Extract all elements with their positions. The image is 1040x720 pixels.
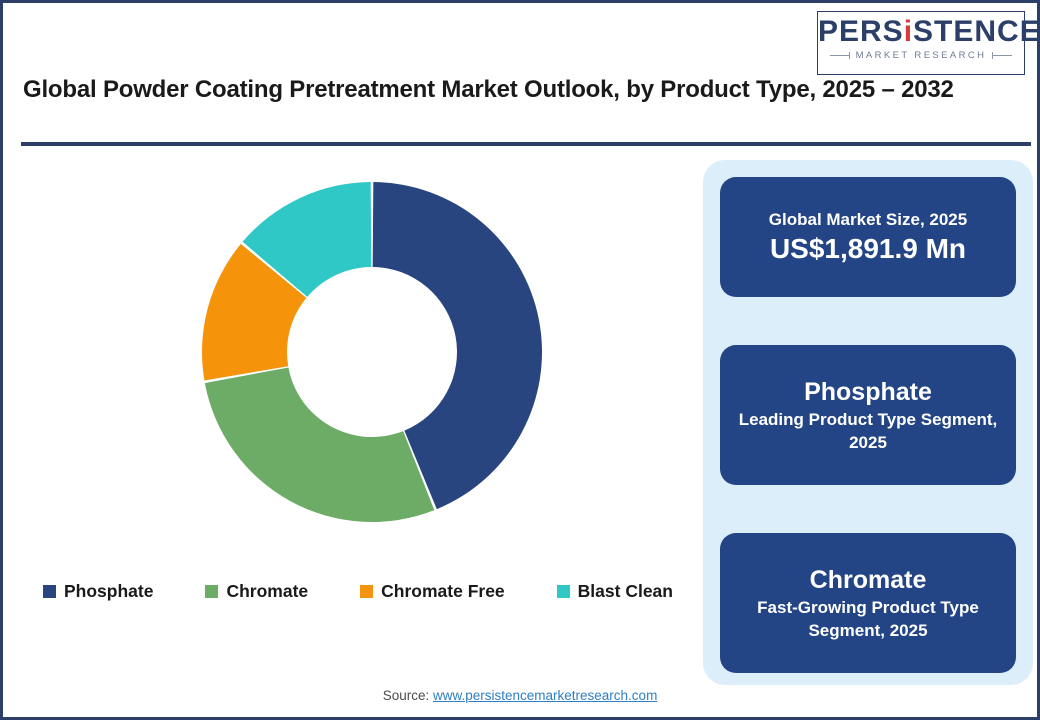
leading-segment-caption: Leading Product Type Segment, 2025 — [720, 408, 1016, 454]
legend-swatch-chromate — [205, 585, 218, 598]
legend-swatch-chromate-free — [360, 585, 373, 598]
market-size-label: Global Market Size, 2025 — [769, 208, 967, 231]
legend-label-chromate-free: Chromate Free — [381, 581, 505, 602]
stat-card-leading-segment: Phosphate Leading Product Type Segment, … — [720, 345, 1016, 485]
header: PERSiSTENCE MARKET RESEARCH Global Powde… — [3, 3, 1037, 143]
legend-label-phosphate: Phosphate — [64, 581, 153, 602]
legend-label-blast-clean: Blast Clean — [578, 581, 673, 602]
legend-item-chromate-free[interactable]: Chromate Free — [360, 581, 505, 602]
donut-chart-svg — [186, 166, 558, 538]
donut-chart-area: Phosphate Chromate Chromate Free Blast C… — [3, 153, 693, 653]
legend-label-chromate: Chromate — [226, 581, 308, 602]
donut-slice-group — [202, 182, 542, 522]
page-title: Global Powder Coating Pretreatment Marke… — [23, 73, 983, 106]
persistence-market-research-logo: PERSiSTENCE MARKET RESEARCH — [817, 11, 1025, 75]
logo-wordmark-accent-i: i — [904, 15, 913, 48]
logo-subtext-row: MARKET RESEARCH — [818, 50, 1024, 61]
logo-subtext: MARKET RESEARCH — [856, 50, 987, 61]
legend-swatch-blast-clean — [557, 585, 570, 598]
fastest-growing-segment-name: Chromate — [810, 564, 927, 596]
leading-segment-name: Phosphate — [804, 376, 932, 408]
logo-wordmark: PERSiSTENCE — [818, 16, 1024, 48]
stat-card-market-size: Global Market Size, 2025 US$1,891.9 Mn — [720, 177, 1016, 297]
donut-slice-chromate[interactable] — [205, 368, 434, 522]
legend-swatch-phosphate — [43, 585, 56, 598]
logo-wordmark-post: STENCE — [913, 15, 1040, 48]
fastest-growing-segment-caption: Fast-Growing Product Type Segment, 2025 — [720, 596, 1016, 642]
footer: Source: www.persistencemarketresearch.co… — [3, 688, 1037, 703]
stat-card-fastest-growing-segment: Chromate Fast-Growing Product Type Segme… — [720, 533, 1016, 673]
legend-item-phosphate[interactable]: Phosphate — [43, 581, 153, 602]
logo-rule-right-icon — [992, 55, 1012, 56]
market-size-value: US$1,891.9 Mn — [770, 232, 966, 266]
logo-wordmark-pre: PERS — [818, 15, 904, 48]
source-label: Source: — [383, 688, 430, 703]
legend-item-blast-clean[interactable]: Blast Clean — [557, 581, 673, 602]
highlights-panel: Global Market Size, 2025 US$1,891.9 Mn P… — [703, 160, 1033, 685]
legend-item-chromate[interactable]: Chromate — [205, 581, 308, 602]
source-link[interactable]: www.persistencemarketresearch.com — [433, 688, 657, 703]
header-divider — [21, 142, 1031, 146]
logo-rule-left-icon — [830, 55, 850, 56]
infographic-canvas: PERSiSTENCE MARKET RESEARCH Global Powde… — [0, 0, 1040, 720]
donut-chart — [186, 166, 558, 538]
chart-legend: Phosphate Chromate Chromate Free Blast C… — [43, 581, 683, 602]
